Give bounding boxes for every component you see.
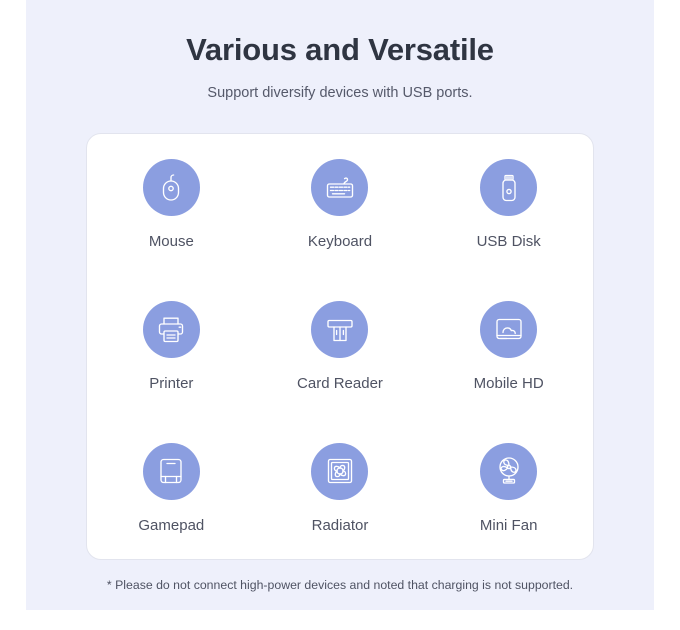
usb-disk-icon [480,159,537,216]
page-title: Various and Versatile [26,0,654,68]
device-item-gamepad[interactable]: Gamepad [138,443,204,534]
device-label: Mouse [149,233,194,250]
devices-card: Mouse Keyboard [86,133,594,560]
mobile-hd-icon [480,301,537,358]
footnote: * Please do not connect high-power devic… [26,578,654,592]
printer-icon [143,301,200,358]
devices-grid: Mouse Keyboard [87,134,593,559]
gamepad-icon [143,443,200,500]
device-item-keyboard[interactable]: Keyboard [308,159,372,250]
card-reader-icon [311,301,368,358]
page-subtitle: Support diversify devices with USB ports… [26,68,654,101]
device-label: Radiator [312,517,369,534]
radiator-icon [311,443,368,500]
device-item-mouse[interactable]: Mouse [143,159,200,250]
mouse-icon [143,159,200,216]
device-item-mobile-hd[interactable]: Mobile HD [474,301,544,392]
device-item-printer[interactable]: Printer [143,301,200,392]
keyboard-icon [311,159,368,216]
device-label: Printer [149,375,193,392]
device-label: USB Disk [477,233,541,250]
promo-page: Various and Versatile Support diversify … [0,0,680,630]
device-item-mini-fan[interactable]: Mini Fan [480,443,538,534]
header: Various and Versatile Support diversify … [26,0,654,101]
device-item-card-reader[interactable]: Card Reader [297,301,383,392]
device-item-usb-disk[interactable]: USB Disk [477,159,541,250]
mini-fan-icon [480,443,537,500]
device-label: Card Reader [297,375,383,392]
device-item-radiator[interactable]: Radiator [311,443,368,534]
lavender-panel: Various and Versatile Support diversify … [26,0,654,610]
device-label: Gamepad [138,517,204,534]
device-label: Mobile HD [474,375,544,392]
device-label: Mini Fan [480,517,538,534]
device-label: Keyboard [308,233,372,250]
